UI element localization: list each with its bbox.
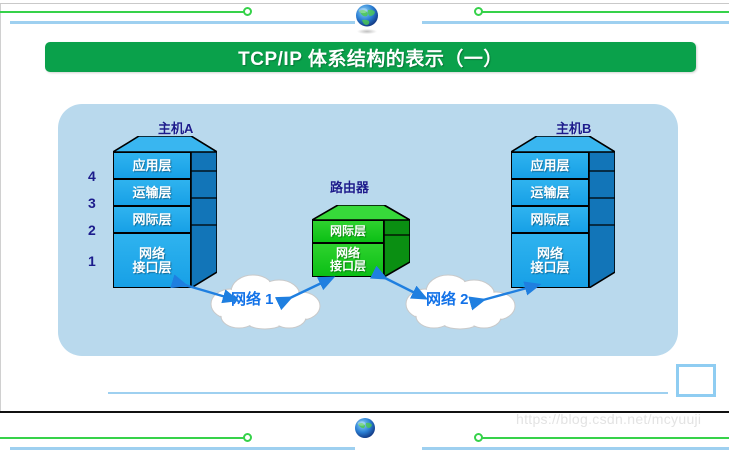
- bottom-blue-line: [108, 392, 668, 394]
- top-green-line-right: [478, 11, 729, 13]
- host-b-layer-application[interactable]: 应用层: [511, 152, 589, 179]
- bottom-green-line-right: [478, 437, 729, 439]
- router-stack[interactable]: 网际层 网络 接口层: [312, 205, 410, 277]
- network-1-label: 网络 1: [231, 288, 274, 309]
- watermark-url: https://blog.csdn.net/mcyuuji: [516, 411, 701, 427]
- host-b-layer-network-interface[interactable]: 网络 接口层: [511, 233, 589, 288]
- slide-title-bar: TCP/IP 体系结构的表示（一）: [45, 42, 696, 72]
- host-a-layer-application[interactable]: 应用层: [113, 152, 191, 179]
- layer-number-3: 3: [88, 195, 96, 211]
- layer-number-4: 4: [88, 168, 96, 184]
- router-layer-internet[interactable]: 网际层: [312, 220, 384, 243]
- layer-number-2: 2: [88, 222, 96, 238]
- top-green-circle-right: [474, 7, 483, 16]
- slide-left-border: [0, 4, 1, 411]
- host-a-label: 主机A: [158, 118, 193, 137]
- bottom-green-line-left: [0, 437, 245, 439]
- host-a-stack[interactable]: 应用层 运输层 网际层 网络 接口层: [113, 136, 217, 288]
- host-b-layer-transport[interactable]: 运输层: [511, 179, 589, 206]
- globe-icon: [350, 2, 384, 36]
- top-blue-line-left: [10, 21, 355, 24]
- host-a-layer-numbers: 4 3 2 1: [88, 168, 102, 278]
- slide-canvas: TCP/IP 体系结构的表示（一） 主机A 4 3 2 1 应用层 运输层 网际…: [0, 0, 729, 441]
- router-label: 路由器: [330, 177, 369, 196]
- host-b-label: 主机B: [556, 118, 591, 137]
- globe-icon-bottom: [350, 413, 380, 443]
- top-green-circle-left: [243, 7, 252, 16]
- layer-number-1: 1: [88, 253, 96, 269]
- page-title: TCP/IP 体系结构的表示（一）: [238, 44, 503, 71]
- top-green-line-left: [0, 11, 245, 13]
- bottom-right-placeholder-box: [676, 364, 716, 397]
- host-b-layer-internet[interactable]: 网际层: [511, 206, 589, 233]
- network-2-label: 网络 2: [426, 288, 469, 309]
- host-a-layer-transport[interactable]: 运输层: [113, 179, 191, 206]
- host-b-stack[interactable]: 应用层 运输层 网际层 网络 接口层: [511, 136, 615, 288]
- host-a-layer-internet[interactable]: 网际层: [113, 206, 191, 233]
- host-a-layer-network-interface[interactable]: 网络 接口层: [113, 233, 191, 288]
- top-blue-line-right: [422, 21, 729, 24]
